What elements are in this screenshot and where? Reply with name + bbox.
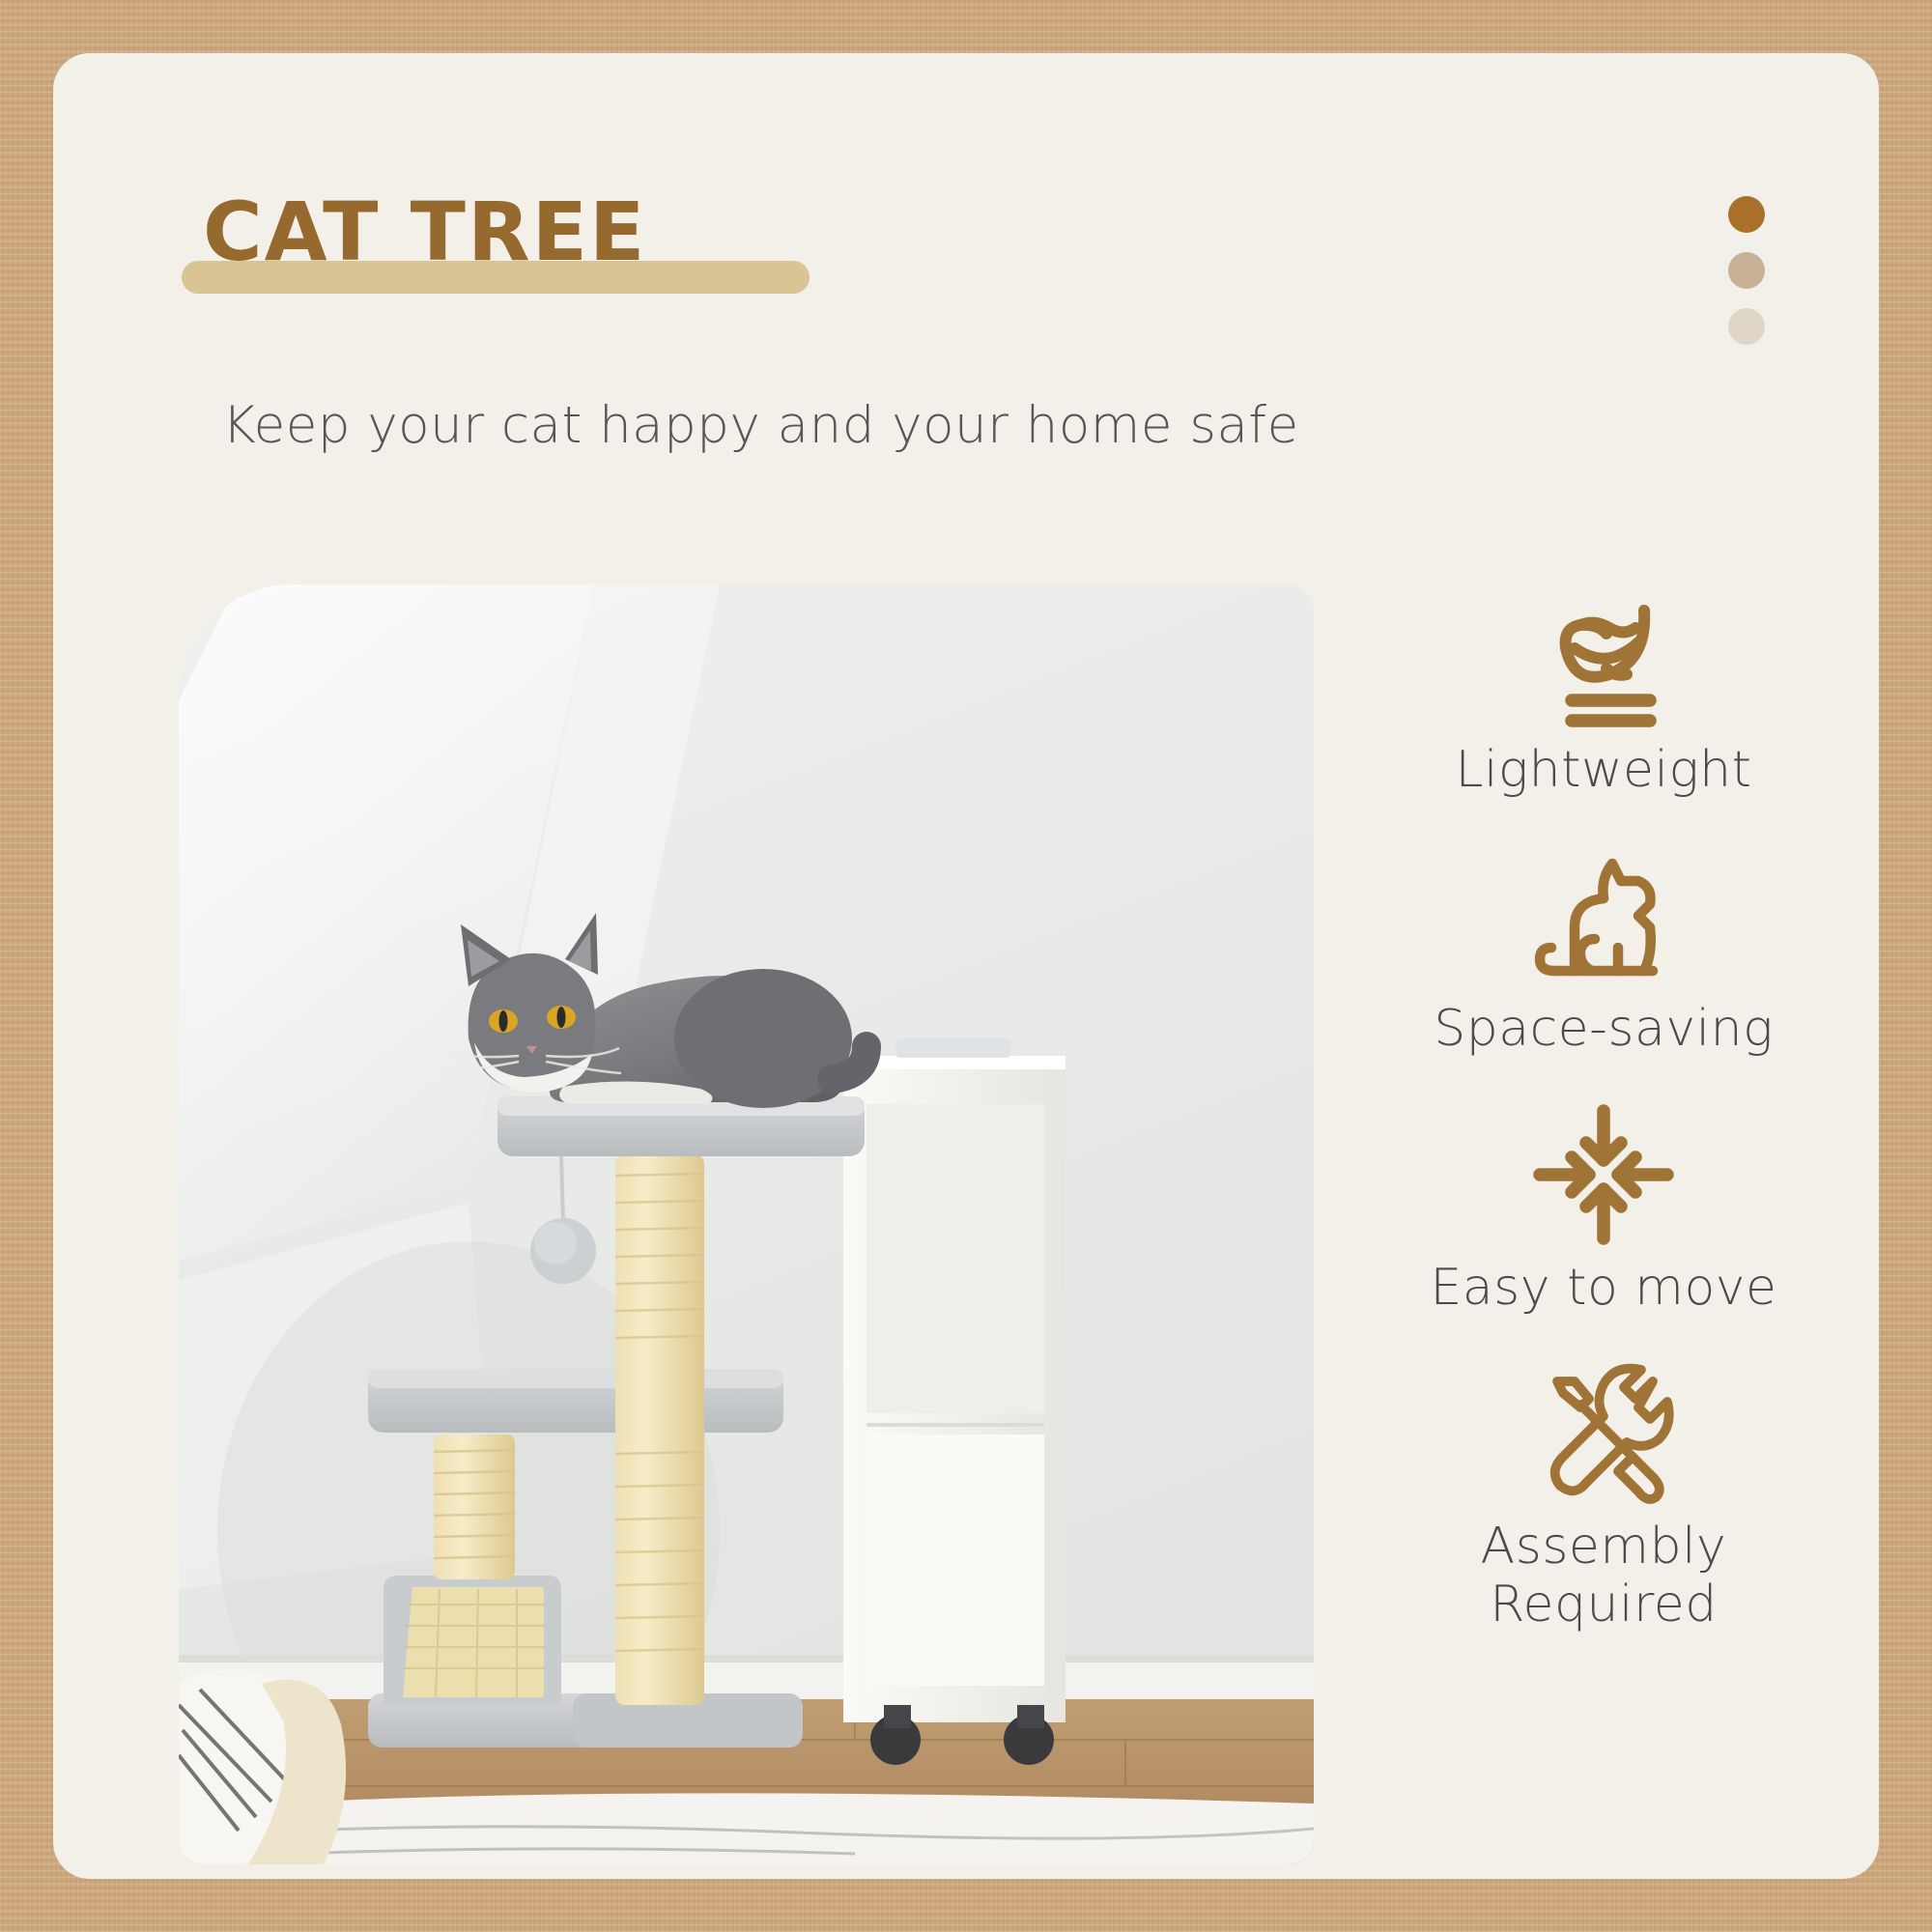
feature-label-easy-to-move: Easy to move (1430, 1259, 1776, 1317)
dot-3-icon (1728, 308, 1765, 345)
content-card: CAT TREE Keep your cat happy and your ho… (53, 53, 1879, 1879)
product-photo-illustration (179, 584, 1314, 1864)
feather-lightweight-icon (1531, 584, 1676, 729)
assembly-line-2: Required (1490, 1576, 1717, 1634)
dot-1-icon (1728, 196, 1765, 233)
sitting-cat-icon (1531, 843, 1676, 988)
feature-label-space-saving: Space-saving (1434, 1000, 1774, 1058)
feature-item-space-saving: Space-saving (1348, 843, 1860, 1058)
wrench-screwdriver-icon (1531, 1361, 1676, 1506)
feature-item-easy-to-move: Easy to move (1348, 1102, 1860, 1317)
product-photo (179, 584, 1314, 1864)
compress-arrows-icon (1531, 1102, 1676, 1247)
photo-cabinet (843, 1038, 1065, 1765)
decorative-dots (1728, 196, 1765, 364)
feature-label-lightweight: Lightweight (1456, 741, 1752, 799)
assembly-line-1: Assembly (1481, 1518, 1727, 1576)
outer-frame: CAT TREE Keep your cat happy and your ho… (0, 0, 1932, 1932)
feature-label-assembly-required: AssemblyRequired (1481, 1518, 1727, 1634)
page-subtitle: Keep your cat happy and your home safe (222, 396, 1299, 456)
photo-blanket (179, 1669, 346, 1864)
page-title: CAT TREE (203, 188, 646, 275)
feature-item-assembly-required: AssemblyRequired (1348, 1361, 1860, 1634)
title-block: CAT TREE (203, 188, 646, 275)
feature-list: Lightweight Space-saving (1348, 584, 1860, 1678)
feature-item-lightweight: Lightweight (1348, 584, 1860, 799)
dot-2-icon (1728, 252, 1765, 289)
